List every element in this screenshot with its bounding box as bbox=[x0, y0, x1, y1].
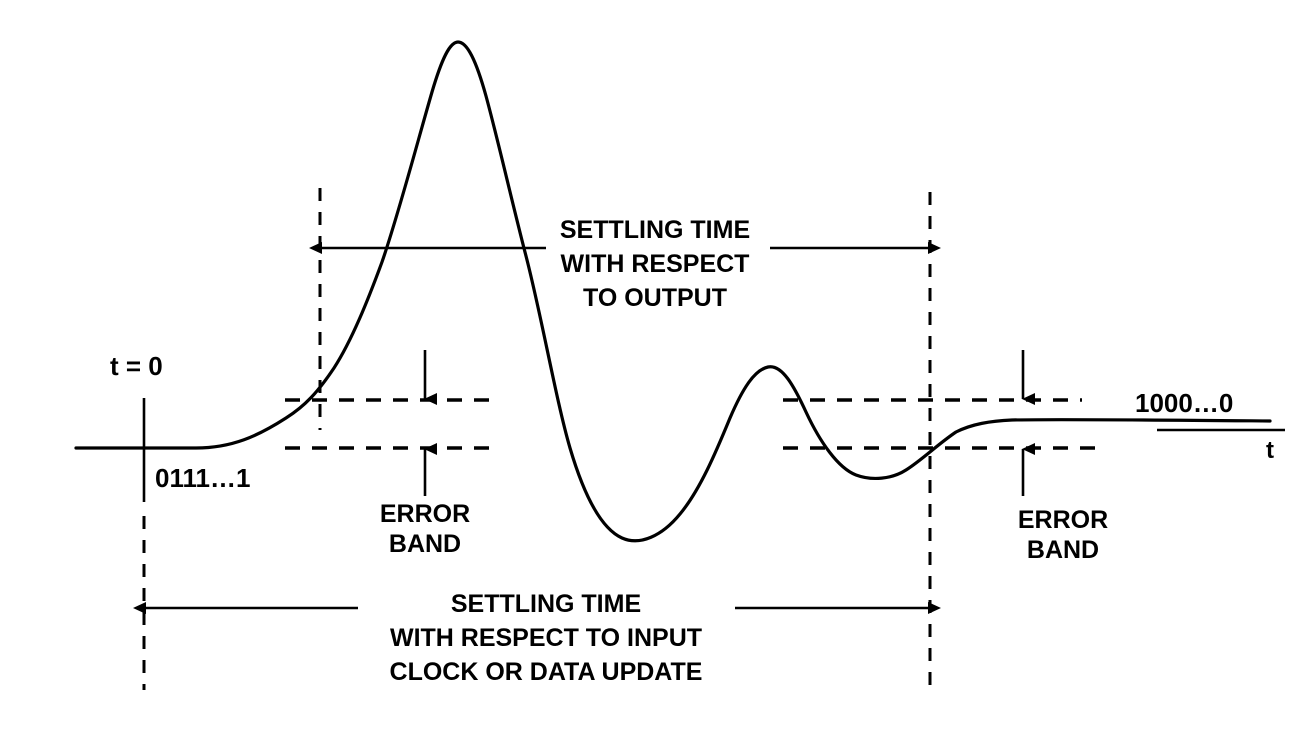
final-code-label: 1000…0 bbox=[1135, 388, 1233, 418]
settling-time-diagram: t = 0 0111…1 1000…0 t SETTLING TIME WITH… bbox=[0, 0, 1316, 733]
settling-input-line3: CLOCK OR DATA UPDATE bbox=[390, 658, 703, 686]
initial-code-label: 0111…1 bbox=[155, 463, 250, 493]
error-band-right-line1: ERROR bbox=[1018, 506, 1108, 534]
settling-output-line3: TO OUTPUT bbox=[583, 284, 727, 312]
error-band-left-line2: BAND bbox=[389, 530, 461, 558]
diagram-canvas: t = 0 0111…1 1000…0 t SETTLING TIME WITH… bbox=[0, 0, 1316, 733]
settling-input-line1: SETTLING TIME bbox=[451, 590, 641, 618]
settling-output-line1: SETTLING TIME bbox=[560, 216, 750, 244]
error-band-right-line2: BAND bbox=[1027, 536, 1099, 564]
time-axis-label: t bbox=[1266, 437, 1274, 464]
error-band-left-line1: ERROR bbox=[380, 500, 470, 528]
settling-output-line2: WITH RESPECT bbox=[561, 250, 750, 278]
settling-input-line2: WITH RESPECT TO INPUT bbox=[390, 624, 702, 652]
t-zero-label: t = 0 bbox=[110, 351, 163, 381]
